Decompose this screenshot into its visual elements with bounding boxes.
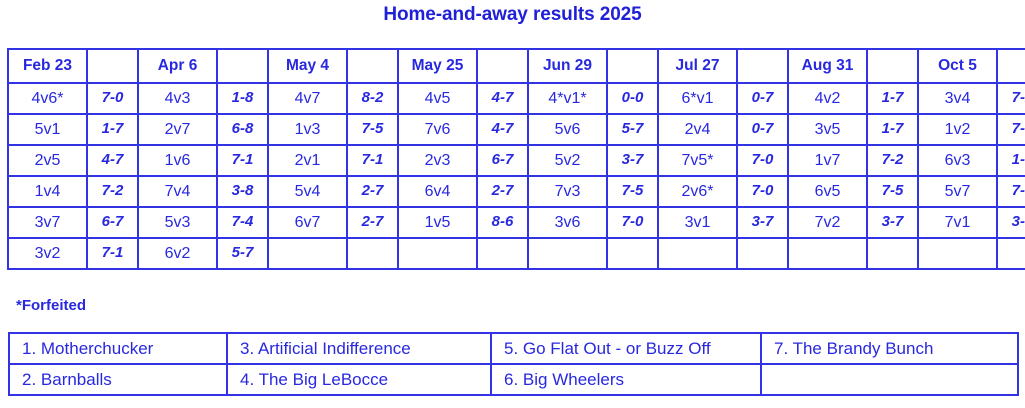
round-date-header: Feb 23 bbox=[8, 49, 87, 83]
match-cell: 4v6* bbox=[8, 83, 87, 114]
match-cell: 2v4 bbox=[658, 114, 737, 145]
match-cell: 4*v1* bbox=[528, 83, 607, 114]
match-cell: 2v1 bbox=[268, 145, 347, 176]
round-date-header-spacer bbox=[737, 49, 788, 83]
match-cell: 7v1 bbox=[918, 207, 997, 238]
score-cell: 2-7 bbox=[347, 176, 398, 207]
score-cell: 7-0 bbox=[737, 145, 788, 176]
score-cell bbox=[477, 238, 528, 269]
table-row: 1v4 7-2 7v4 3-8 5v4 2-7 6v4 2-7 7v3 7-5 … bbox=[8, 176, 1025, 207]
team-name-cell: 2. Barnballs bbox=[9, 364, 227, 395]
score-cell: 4-7 bbox=[87, 145, 138, 176]
score-cell: 6-7 bbox=[477, 145, 528, 176]
results-table-body: Feb 23 Apr 6 May 4 May 25 Jun 29 Jul 27 … bbox=[8, 49, 1025, 269]
match-cell: 1v5 bbox=[398, 207, 477, 238]
score-cell: 7-1 bbox=[347, 145, 398, 176]
score-cell: 7-5 bbox=[607, 176, 658, 207]
match-cell: 3v4 bbox=[918, 83, 997, 114]
score-cell: 0-0 bbox=[607, 83, 658, 114]
score-cell: 5-7 bbox=[607, 114, 658, 145]
table-row: 5v1 1-7 2v7 6-8 1v3 7-5 7v6 4-7 5v6 5-7 … bbox=[8, 114, 1025, 145]
score-cell bbox=[867, 238, 918, 269]
match-cell bbox=[788, 238, 867, 269]
match-cell: 3v5 bbox=[788, 114, 867, 145]
match-cell: 3v7 bbox=[8, 207, 87, 238]
score-cell bbox=[997, 238, 1025, 269]
score-cell: 1-8 bbox=[217, 83, 268, 114]
score-cell: 7-1 bbox=[87, 238, 138, 269]
score-cell: 5-7 bbox=[217, 238, 268, 269]
round-date-header: Jun 29 bbox=[528, 49, 607, 83]
score-cell: 7-2 bbox=[867, 145, 918, 176]
results-header-row: Feb 23 Apr 6 May 4 May 25 Jun 29 Jul 27 … bbox=[8, 49, 1025, 83]
list-item: 1. Motherchucker 3. Artificial Indiffere… bbox=[9, 333, 1018, 364]
score-cell: 7-5 bbox=[347, 114, 398, 145]
match-cell: 2v7 bbox=[138, 114, 217, 145]
match-cell: 1v2 bbox=[918, 114, 997, 145]
match-cell: 6v3 bbox=[918, 145, 997, 176]
match-cell: 7v3 bbox=[528, 176, 607, 207]
match-cell: 7v5* bbox=[658, 145, 737, 176]
match-cell: 6v4 bbox=[398, 176, 477, 207]
match-cell: 7v6 bbox=[398, 114, 477, 145]
page-root: Home-and-away results 2025 Feb 23 Apr 6 bbox=[0, 0, 1025, 408]
results-table: Feb 23 Apr 6 May 4 May 25 Jun 29 Jul 27 … bbox=[7, 48, 1025, 270]
match-cell: 1v7 bbox=[788, 145, 867, 176]
match-cell: 5v1 bbox=[8, 114, 87, 145]
match-cell: 5v3 bbox=[138, 207, 217, 238]
team-name-cell: 1. Motherchucker bbox=[9, 333, 227, 364]
score-cell: 7-0 bbox=[87, 83, 138, 114]
score-cell bbox=[347, 238, 398, 269]
team-name-cell: 4. The Big LeBocce bbox=[227, 364, 491, 395]
match-cell: 2v6* bbox=[658, 176, 737, 207]
forfeited-footnote: *Forfeited bbox=[16, 297, 86, 314]
match-cell: 6v7 bbox=[268, 207, 347, 238]
team-name-cell: 3. Artificial Indifference bbox=[227, 333, 491, 364]
score-cell: 3-8 bbox=[997, 207, 1025, 238]
score-cell: 2-7 bbox=[477, 176, 528, 207]
match-cell bbox=[918, 238, 997, 269]
match-cell: 2v3 bbox=[398, 145, 477, 176]
score-cell: 0-7 bbox=[737, 83, 788, 114]
score-cell bbox=[607, 238, 658, 269]
team-name-cell: 6. Big Wheelers bbox=[491, 364, 761, 395]
team-name-cell-empty bbox=[761, 364, 1018, 395]
round-date-header: Jul 27 bbox=[658, 49, 737, 83]
match-cell: 7v4 bbox=[138, 176, 217, 207]
round-date-header-spacer bbox=[997, 49, 1025, 83]
score-cell: 6-8 bbox=[217, 114, 268, 145]
round-date-header: May 4 bbox=[268, 49, 347, 83]
score-cell: 1-7 bbox=[867, 114, 918, 145]
score-cell: 7-2 bbox=[997, 83, 1025, 114]
score-cell: 1-7 bbox=[87, 114, 138, 145]
teams-legend-table: 1. Motherchucker 3. Artificial Indiffere… bbox=[8, 332, 1019, 396]
score-cell: 7-5 bbox=[867, 176, 918, 207]
score-cell: 2-7 bbox=[347, 207, 398, 238]
teams-legend-container: 1. Motherchucker 3. Artificial Indiffere… bbox=[8, 332, 1017, 396]
match-cell: 2v5 bbox=[8, 145, 87, 176]
match-cell bbox=[528, 238, 607, 269]
match-cell: 3v6 bbox=[528, 207, 607, 238]
match-cell: 3v1 bbox=[658, 207, 737, 238]
results-table-container: Feb 23 Apr 6 May 4 May 25 Jun 29 Jul 27 … bbox=[7, 48, 1017, 270]
match-cell: 1v3 bbox=[268, 114, 347, 145]
match-cell: 1v6 bbox=[138, 145, 217, 176]
score-cell: 6-7 bbox=[87, 207, 138, 238]
score-cell: 3-8 bbox=[217, 176, 268, 207]
match-cell: 4v7 bbox=[268, 83, 347, 114]
team-name-cell: 7. The Brandy Bunch bbox=[761, 333, 1018, 364]
score-cell: 4-7 bbox=[477, 114, 528, 145]
teams-legend-body: 1. Motherchucker 3. Artificial Indiffere… bbox=[9, 333, 1018, 395]
match-cell: 4v5 bbox=[398, 83, 477, 114]
score-cell: 7-5 bbox=[997, 114, 1025, 145]
round-date-header-spacer bbox=[217, 49, 268, 83]
score-cell: 8-2 bbox=[347, 83, 398, 114]
round-date-header: Apr 6 bbox=[138, 49, 217, 83]
match-cell: 5v7 bbox=[918, 176, 997, 207]
score-cell: 1-7 bbox=[867, 83, 918, 114]
score-cell: 7-2 bbox=[87, 176, 138, 207]
round-date-header: Oct 5 bbox=[918, 49, 997, 83]
table-row: 3v7 6-7 5v3 7-4 6v7 2-7 1v5 8-6 3v6 7-0 … bbox=[8, 207, 1025, 238]
match-cell: 4v2 bbox=[788, 83, 867, 114]
score-cell: 1-7 bbox=[997, 145, 1025, 176]
round-date-header: May 25 bbox=[398, 49, 477, 83]
score-cell: 4-7 bbox=[477, 83, 528, 114]
list-item: 2. Barnballs 4. The Big LeBocce 6. Big W… bbox=[9, 364, 1018, 395]
match-cell: 1v4 bbox=[8, 176, 87, 207]
score-cell: 0-7 bbox=[737, 114, 788, 145]
match-cell: 7v2 bbox=[788, 207, 867, 238]
score-cell: 3-7 bbox=[737, 207, 788, 238]
match-cell bbox=[398, 238, 477, 269]
score-cell bbox=[737, 238, 788, 269]
table-row: 4v6* 7-0 4v3 1-8 4v7 8-2 4v5 4-7 4*v1* 0… bbox=[8, 83, 1025, 114]
match-cell: 3v2 bbox=[8, 238, 87, 269]
team-name-cell: 5. Go Flat Out - or Buzz Off bbox=[491, 333, 761, 364]
match-cell: 5v4 bbox=[268, 176, 347, 207]
match-cell: 5v2 bbox=[528, 145, 607, 176]
page-title: Home-and-away results 2025 bbox=[0, 4, 1025, 26]
match-cell: 6*v1 bbox=[658, 83, 737, 114]
score-cell: 7-3 bbox=[997, 176, 1025, 207]
round-date-header: Aug 31 bbox=[788, 49, 867, 83]
match-cell: 6v5 bbox=[788, 176, 867, 207]
round-date-header-spacer bbox=[867, 49, 918, 83]
score-cell: 7-0 bbox=[737, 176, 788, 207]
score-cell: 3-7 bbox=[607, 145, 658, 176]
score-cell: 8-6 bbox=[477, 207, 528, 238]
match-cell bbox=[658, 238, 737, 269]
match-cell: 6v2 bbox=[138, 238, 217, 269]
round-date-header-spacer bbox=[87, 49, 138, 83]
match-cell: 5v6 bbox=[528, 114, 607, 145]
round-date-header-spacer bbox=[347, 49, 398, 83]
table-row: 2v5 4-7 1v6 7-1 2v1 7-1 2v3 6-7 5v2 3-7 … bbox=[8, 145, 1025, 176]
match-cell bbox=[268, 238, 347, 269]
round-date-header-spacer bbox=[607, 49, 658, 83]
table-row: 3v2 7-1 6v2 5-7 bbox=[8, 238, 1025, 269]
score-cell: 3-7 bbox=[867, 207, 918, 238]
round-date-header-spacer bbox=[477, 49, 528, 83]
score-cell: 7-4 bbox=[217, 207, 268, 238]
score-cell: 7-0 bbox=[607, 207, 658, 238]
score-cell: 7-1 bbox=[217, 145, 268, 176]
match-cell: 4v3 bbox=[138, 83, 217, 114]
